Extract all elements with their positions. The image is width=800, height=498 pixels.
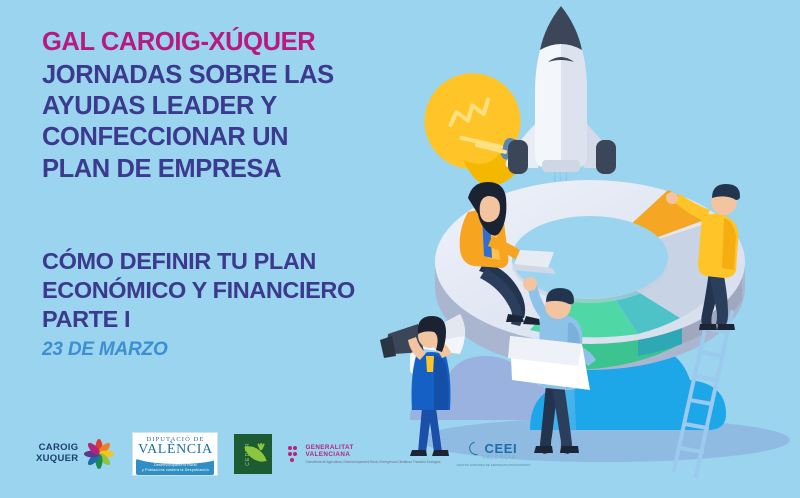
generalitat-tagline: Conselleria de Agricultura, Desenvolupam…: [305, 460, 440, 465]
illustration-artwork: [380, 0, 800, 498]
subheading-line-3: PARTE I: [42, 305, 422, 334]
diputacio-tagline-2: y Poblacions costera la Despoblación: [142, 468, 209, 472]
heading-line-2: AYUDAS LEADER Y: [42, 91, 422, 122]
poster-canvas: GAL CAROIG-XÚQUER JORNADAS SOBRE LAS AYU…: [0, 0, 800, 498]
generalitat-line-1: GENERALITAT: [305, 444, 440, 452]
heading-line-1: JORNADAS SOBRE LAS: [42, 60, 422, 91]
logo-ceder: CEDER: [234, 434, 272, 474]
heading-line-3: CONFECCIONAR UN: [42, 122, 422, 153]
ceei-name: CEEI: [484, 441, 517, 456]
logo-generalitat-valenciana: GENERALITAT VALENCIANA Conselleria de Ag…: [288, 444, 440, 465]
ceei-tagline: CENTRO EUROPEO DE EMPRESAS INNOVADORAS: [456, 463, 530, 467]
sprig-icon: [255, 441, 267, 453]
diputacio-line-2: VALÈNCIA: [138, 443, 213, 457]
diputacio-wave: Desenvolupament Rural y Poblacions coste…: [136, 459, 214, 475]
logo-caroig-xuquer: CAROIG XUQUER: [36, 437, 116, 471]
sub-heading: CÓMO DEFINIR TU PLAN ECONÓMICO Y FINANCI…: [42, 247, 422, 334]
generalitat-line-2: VALENCIANA: [305, 451, 440, 459]
logo-bar: CAROIG XUQUER DIPUTACIÓ DE VALÈNCIA Dese…: [36, 432, 530, 476]
event-date: 23 DE MARZO: [42, 339, 422, 361]
brand-title: GAL CAROIG-XÚQUER: [42, 28, 422, 57]
flower-icon: [82, 437, 116, 471]
ceei-city: VALENCIA: [482, 455, 516, 461]
rocket-icon: [506, 6, 617, 174]
generalitat-crest-icon: [288, 446, 301, 462]
heading-line-4: PLAN DE EMPRESA: [42, 154, 422, 185]
caroig-wordmark: CAROIG XUQUER: [36, 443, 78, 464]
diputacio-tagline-1: Desenvolupament Rural: [154, 463, 197, 467]
caroig-line-2: XUQUER: [36, 454, 78, 465]
text-column: GAL CAROIG-XÚQUER JORNADAS SOBRE LAS AYU…: [42, 28, 422, 361]
main-heading: JORNADAS SOBRE LAS AYUDAS LEADER Y CONFE…: [42, 60, 422, 185]
logo-diputacio-valencia: DIPUTACIÓ DE VALÈNCIA Desenvolupament Ru…: [132, 432, 218, 476]
ceei-top: CEEI: [469, 441, 517, 456]
logo-ceei-valencia: CEEI VALENCIA CENTRO EUROPEO DE EMPRESAS…: [456, 441, 530, 467]
subheading-line-1: CÓMO DEFINIR TU PLAN: [42, 247, 422, 276]
subheading-line-2: ECONÓMICO Y FINANCIERO: [42, 276, 422, 305]
lightbulb-icon: [411, 57, 548, 202]
